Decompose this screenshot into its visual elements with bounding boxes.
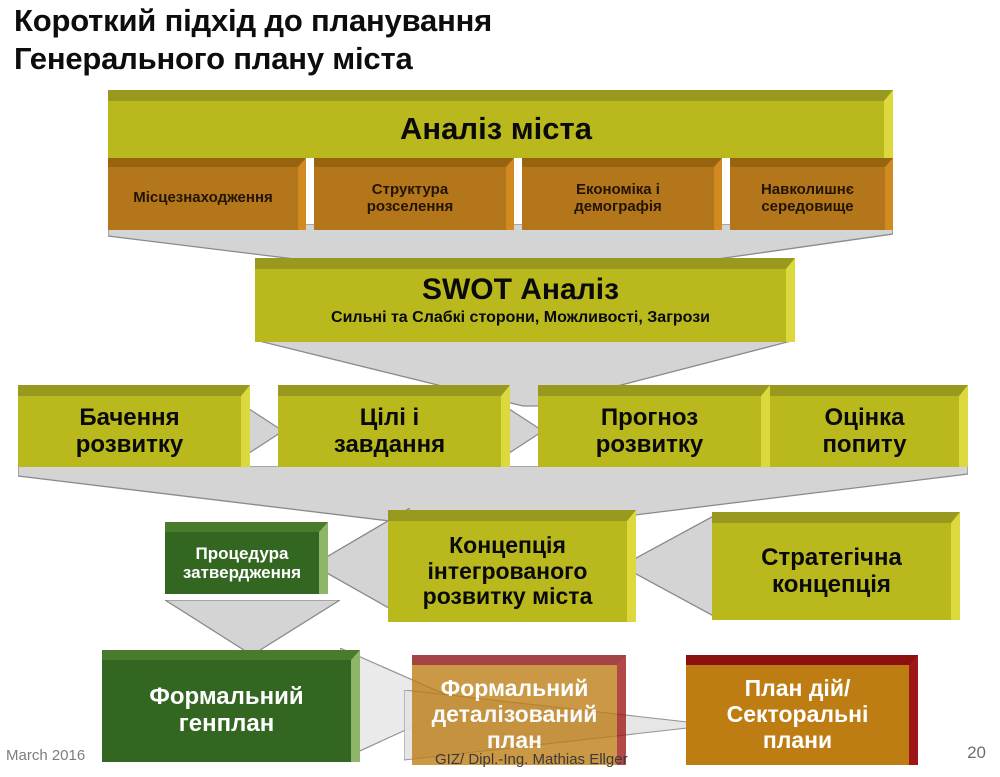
analysis-item-environment[interactable]: Навколишнє середовище (730, 158, 893, 230)
concept-box-strategic-concept[interactable]: Стратегічна концепція (712, 512, 960, 620)
page-title: Короткий підхід до планування Генерально… (14, 2, 714, 79)
concept-box-label: Концепція інтегрованого розвитку міста (417, 533, 599, 610)
analysis-header-block[interactable]: Аналіз міста (108, 90, 893, 158)
analysis-item-location[interactable]: Місцезнаходження (108, 158, 306, 230)
plan-box-formal-masterplan[interactable]: Формальний генплан (102, 650, 360, 762)
analysis-header-label: Аналіз міста (394, 112, 598, 147)
connector-approval-to-masterplan-arrow (165, 600, 340, 654)
swot-title: SWOT Аналіз (416, 273, 625, 307)
concept-box-approval-procedure[interactable]: Процедура затвердження (165, 522, 328, 594)
analysis-item-economy-demography[interactable]: Економіка і демографія (522, 158, 722, 230)
plan-box-label: План дій/ Секторальні плани (721, 676, 875, 753)
analysis-item-label: Місцезнаходження (127, 190, 279, 207)
plan-box-label: Формальний деталізований план (426, 676, 604, 753)
analysis-item-label: Економіка і демографія (568, 182, 668, 216)
swot-block[interactable]: SWOT Аналіз Сильні та Слабкі сторони, Мо… (255, 258, 795, 342)
footer-date: March 2016 (6, 747, 85, 764)
connector-strategic-to-integrated-arrow (625, 512, 721, 620)
footer-page-number: 20 (967, 743, 986, 763)
strategy-box-goals[interactable]: Цілі і завдання (278, 385, 510, 467)
strategy-box-demand[interactable]: Оцінка попиту (770, 385, 968, 467)
analysis-item-settlement-structure[interactable]: Структура розселення (314, 158, 514, 230)
plan-box-label: Формальний генплан (143, 684, 309, 738)
strategy-box-label: Прогноз розвитку (590, 405, 710, 459)
concept-box-label: Стратегічна концепція (755, 545, 908, 599)
swot-subtitle: Сильні та Слабкі сторони, Можливості, За… (325, 309, 716, 327)
analysis-item-label: Навколишнє середовище (755, 182, 860, 216)
strategy-box-label: Цілі і завдання (328, 405, 451, 459)
plan-box-formal-detailed-plan[interactable]: Формальний деталізований план (412, 655, 626, 765)
concept-box-integrated-development[interactable]: Концепція інтегрованого розвитку міста (388, 510, 636, 622)
strategy-box-label: Оцінка попиту (816, 405, 912, 459)
strategy-box-label: Бачення розвитку (70, 405, 190, 459)
plan-box-action-sectoral-plans[interactable]: План дій/ Секторальні плани (686, 655, 918, 765)
strategy-box-forecast[interactable]: Прогноз розвитку (538, 385, 770, 467)
analysis-item-label: Структура розселення (361, 182, 459, 216)
strategy-box-vision[interactable]: Бачення розвитку (18, 385, 250, 467)
footer-credit: GIZ/ Dipl.-Ing. Mathias Ellger (435, 751, 628, 768)
concept-box-label: Процедура затвердження (177, 544, 307, 582)
